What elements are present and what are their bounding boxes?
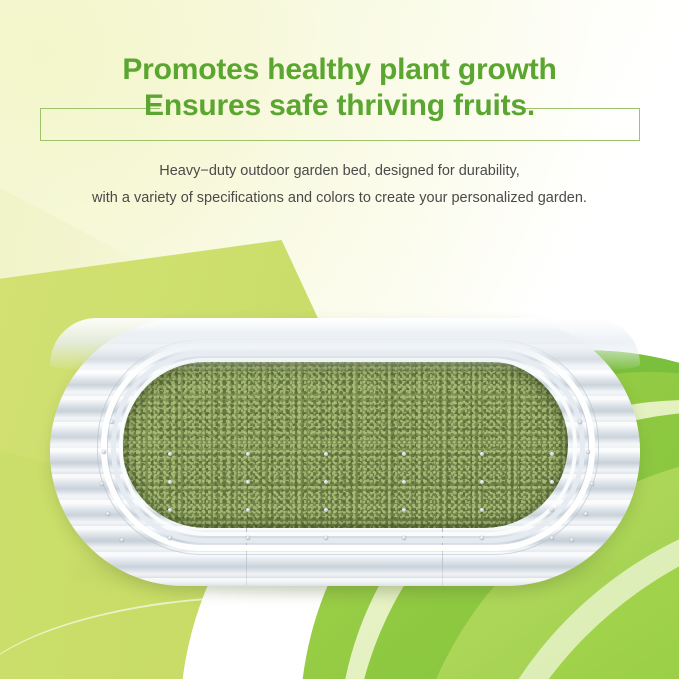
rivet-icon bbox=[586, 450, 590, 454]
rivet-icon bbox=[402, 536, 406, 540]
rivet-icon bbox=[168, 508, 172, 512]
rivet-icon bbox=[324, 452, 328, 456]
page-subtitle: Heavy−duty outdoor garden bed, designed … bbox=[0, 158, 679, 212]
rivet-icon bbox=[110, 420, 114, 424]
rivet-icon bbox=[120, 538, 124, 542]
rivet-icon bbox=[550, 536, 554, 540]
rivet-icon bbox=[584, 512, 588, 516]
rivet-icon bbox=[168, 536, 172, 540]
banner-canvas: Promotes healthy plant growth Ensures sa… bbox=[0, 0, 679, 679]
rivet-icon bbox=[324, 480, 328, 484]
rivet-icon bbox=[570, 538, 574, 542]
rivet-icon bbox=[480, 452, 484, 456]
rivet-icon bbox=[324, 536, 328, 540]
rivet-icon bbox=[480, 508, 484, 512]
rivet-icon bbox=[402, 508, 406, 512]
garden-bed-soil-fill bbox=[122, 360, 568, 528]
rivet-icon bbox=[480, 536, 484, 540]
rivet-icon bbox=[246, 536, 250, 540]
rivet-icon bbox=[550, 480, 554, 484]
rivet-icon bbox=[246, 508, 250, 512]
rivet-icon bbox=[168, 452, 172, 456]
rivet-icon bbox=[550, 508, 554, 512]
rivet-icon bbox=[102, 450, 106, 454]
rivet-icon bbox=[324, 508, 328, 512]
rivet-icon bbox=[578, 420, 582, 424]
rivet-icon bbox=[550, 452, 554, 456]
rivet-icon bbox=[402, 452, 406, 456]
rivet-icon bbox=[480, 480, 484, 484]
rivet-icon bbox=[168, 480, 172, 484]
rivet-icon bbox=[246, 480, 250, 484]
page-title: Promotes healthy plant growth Ensures sa… bbox=[0, 52, 679, 124]
product-image-oval-garden-bed bbox=[50, 300, 640, 600]
rivet-icon bbox=[100, 482, 104, 486]
rivet-icon bbox=[402, 480, 406, 484]
rivet-icon bbox=[246, 452, 250, 456]
rivet-icon bbox=[590, 482, 594, 486]
rivet-icon bbox=[106, 512, 110, 516]
